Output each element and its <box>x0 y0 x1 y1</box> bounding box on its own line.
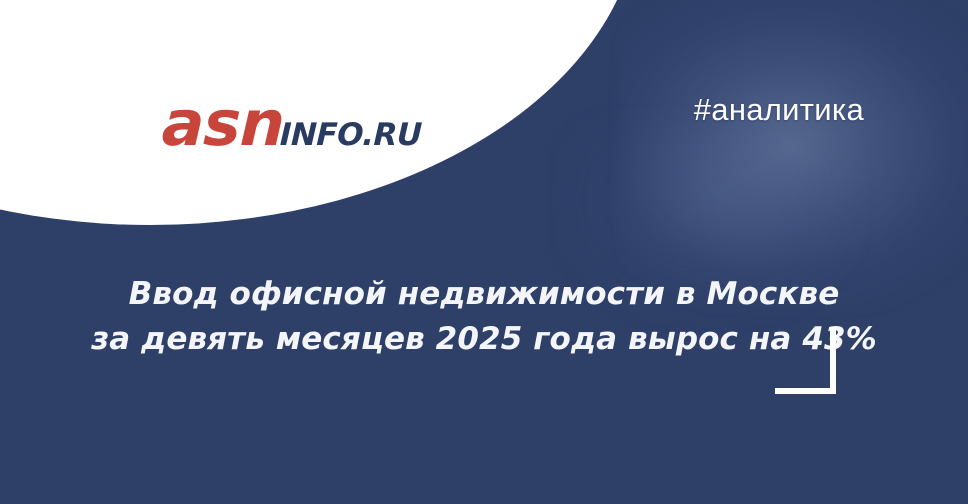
headline-block: Ввод офисной недвижимости в Москве за де… <box>0 272 968 361</box>
logo-primary-text: asn <box>161 92 285 155</box>
logo-secondary-text: INFO.RU <box>279 120 422 151</box>
hashtag-label[interactable]: #аналитика <box>694 91 864 128</box>
headline-line-1: Ввод офисной недвижимости в Москве <box>64 272 904 317</box>
analytics-banner-card: asn INFO.RU #аналитика Ввод офисной недв… <box>0 0 968 504</box>
asninfo-logo[interactable]: asn INFO.RU <box>162 92 422 155</box>
headline-line-2: за девять месяцев 2025 года вырос на 43% <box>64 317 904 362</box>
